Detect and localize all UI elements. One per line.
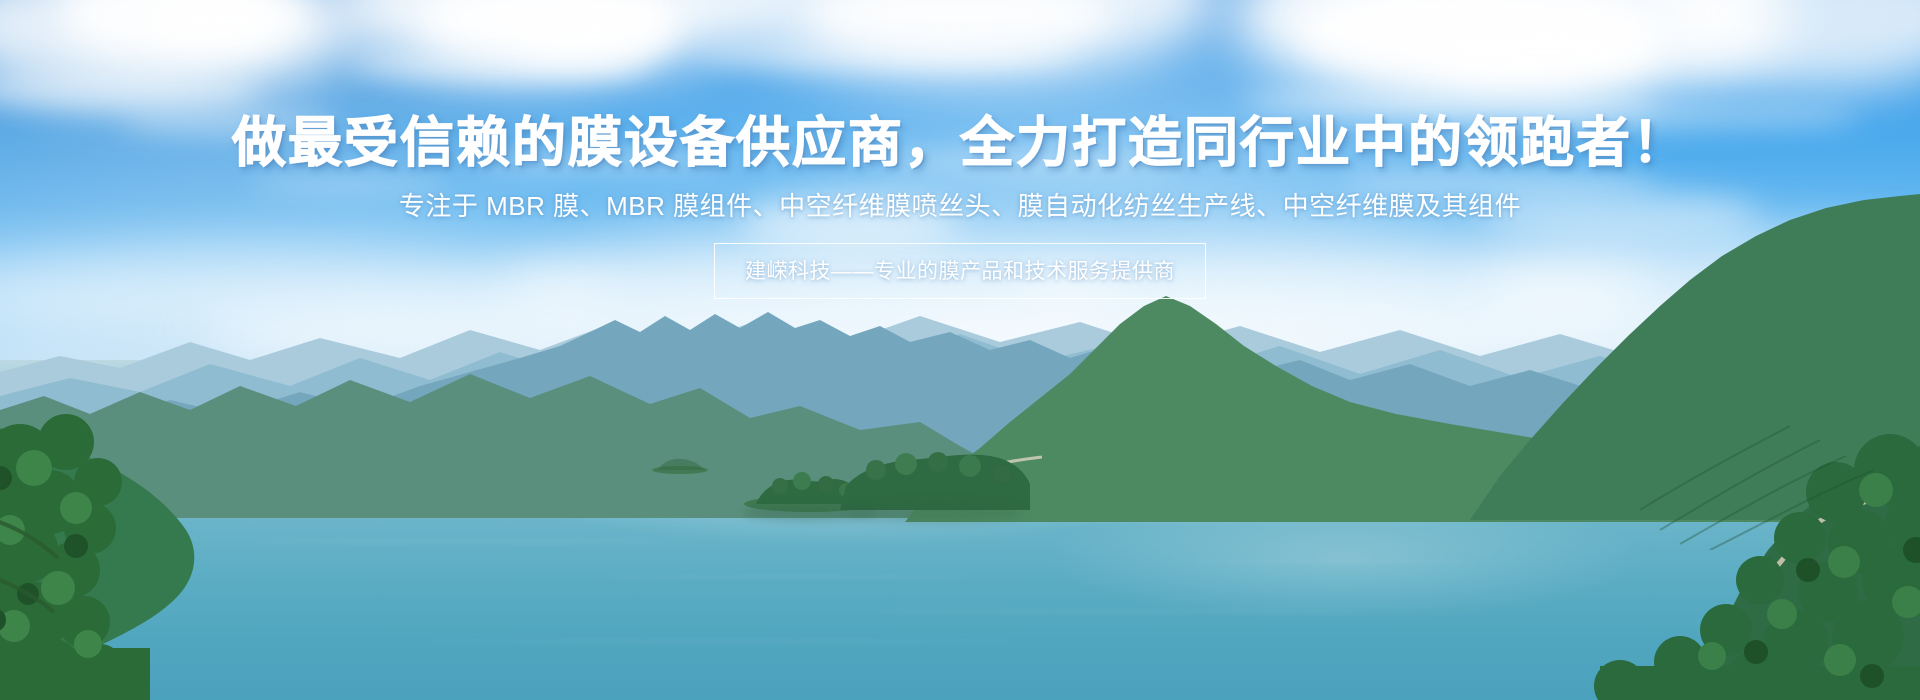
hillside-texture-right [1640, 330, 1920, 550]
foliage-left [0, 398, 280, 700]
hero-banner: 做最受信赖的膜设备供应商，全力打造同行业中的领跑者！ 专注于 MBR 膜、MBR… [0, 0, 1920, 700]
